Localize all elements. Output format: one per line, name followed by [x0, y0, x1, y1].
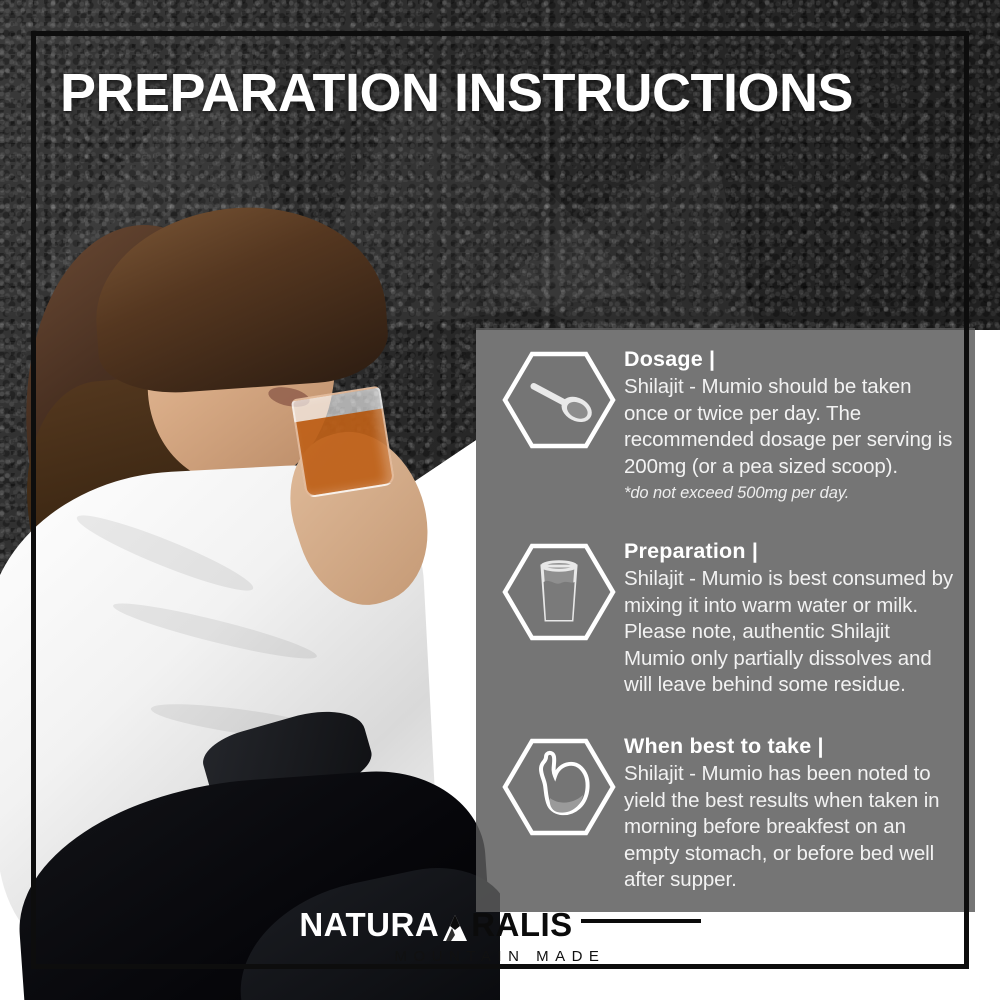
- preparation-text-block: Preparation | Shilajit - Mumio is best c…: [624, 532, 954, 699]
- brand-tagline: MOUNTAIN MADE: [395, 948, 606, 966]
- section-heading: When best to take |: [624, 733, 954, 760]
- when-best-to-take-text-block: When best to take | Shilajit - Mumio has…: [624, 727, 954, 894]
- woman-drinking-tea-photo: [0, 180, 500, 1000]
- instructions-panel: Dosage | Shilajit - Mumio should be take…: [476, 328, 975, 912]
- section-body: Shilajit - Mumio is best consumed by mix…: [624, 566, 954, 699]
- brand-logo: NATURA RALIS MOUNTAIN MADE: [0, 907, 1000, 966]
- page-title: PREPARATION INSTRUCTIONS: [60, 62, 853, 124]
- mountain-icon: [440, 913, 470, 943]
- section-body: Shilajit - Mumio has been noted to yield…: [624, 761, 954, 894]
- stomach-icon: [494, 727, 624, 847]
- section-note: *do not exceed 500mg per day.: [624, 482, 954, 504]
- section-body: Shilajit - Mumio should be taken once or…: [624, 374, 954, 480]
- footer: NATURA RALIS MOUNTAIN MADE: [0, 908, 1000, 1000]
- instruction-row: Dosage | Shilajit - Mumio should be take…: [476, 340, 954, 504]
- section-heading: Dosage |: [624, 346, 954, 373]
- brand-logo-wordmark: NATURA RALIS: [299, 907, 700, 943]
- brand-part-1: NATURA: [299, 907, 439, 943]
- tea-glass: [291, 386, 396, 499]
- brand-rule: [581, 919, 701, 923]
- instruction-row: When best to take | Shilajit - Mumio has…: [476, 727, 954, 894]
- water-glass-icon: [494, 532, 624, 652]
- brand-part-2: RALIS: [471, 907, 573, 943]
- dosage-text-block: Dosage | Shilajit - Mumio should be take…: [624, 340, 954, 504]
- instruction-row: Preparation | Shilajit - Mumio is best c…: [476, 532, 954, 699]
- infographic-page: PREPARATION INSTRUCTIONS Dosage | Shilaj…: [0, 0, 1000, 1000]
- spoon-icon: [494, 340, 624, 460]
- section-heading: Preparation |: [624, 538, 954, 565]
